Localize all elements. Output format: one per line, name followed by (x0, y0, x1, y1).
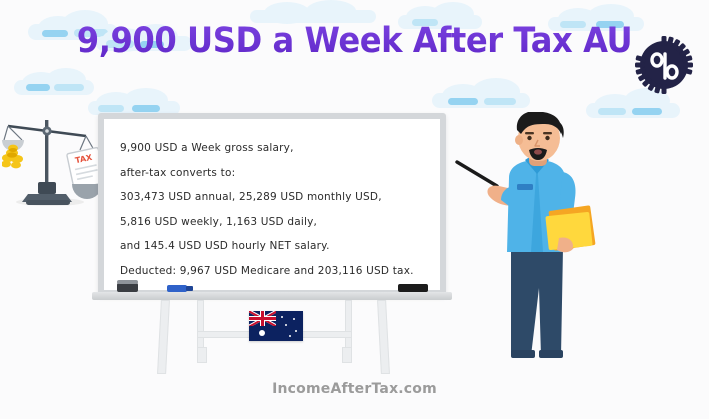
board-line: and 145.4 USD USD hourly NET salary. (120, 234, 430, 259)
stand-leg-right (377, 300, 390, 374)
board-line: 5,816 USD weekly, 1,163 USD daily, (120, 210, 430, 235)
australia-flag-icon (249, 311, 303, 341)
star-icon (281, 316, 283, 318)
cloud-icon (14, 68, 96, 98)
star-icon (285, 324, 287, 326)
site-watermark: IncomeAfterTax.com (0, 381, 709, 397)
stand-leg-left (157, 300, 170, 374)
page-title: 9,900 USD a Week After Tax AU (28, 21, 680, 61)
blue-marker-icon (167, 285, 187, 292)
board-line: Deducted: 9,967 USD Medicare and 203,116… (120, 259, 430, 284)
presenter-illustration (455, 112, 625, 364)
stand-foot-left (197, 347, 207, 363)
star-icon (295, 330, 297, 332)
board-line: 303,473 USD annual, 25,289 USD monthly U… (120, 185, 430, 210)
whiteboard: 9,900 USD a Week gross salary, after-tax… (98, 113, 446, 296)
board-line: 9,900 USD a Week gross salary, (120, 136, 430, 161)
whiteboard-text: 9,900 USD a Week gross salary, after-tax… (120, 136, 430, 283)
pointer-stick (457, 162, 497, 186)
cloud-icon (432, 78, 532, 110)
whiteboard-tray (92, 292, 452, 300)
infographic-canvas: 9,900 USD a Week After Tax AU (0, 0, 709, 419)
black-marker-icon (398, 284, 428, 292)
commonwealth-star (259, 330, 265, 336)
marker-cap-icon (186, 286, 193, 291)
star-icon (293, 318, 295, 320)
balance-scales-icon: TAX (2, 112, 108, 208)
eraser-icon (117, 283, 138, 292)
percent-badge-icon (634, 35, 694, 95)
board-line: after-tax converts to: (120, 161, 430, 186)
union-jack (249, 311, 276, 326)
stand-foot-right (342, 347, 352, 363)
star-icon (289, 335, 291, 337)
